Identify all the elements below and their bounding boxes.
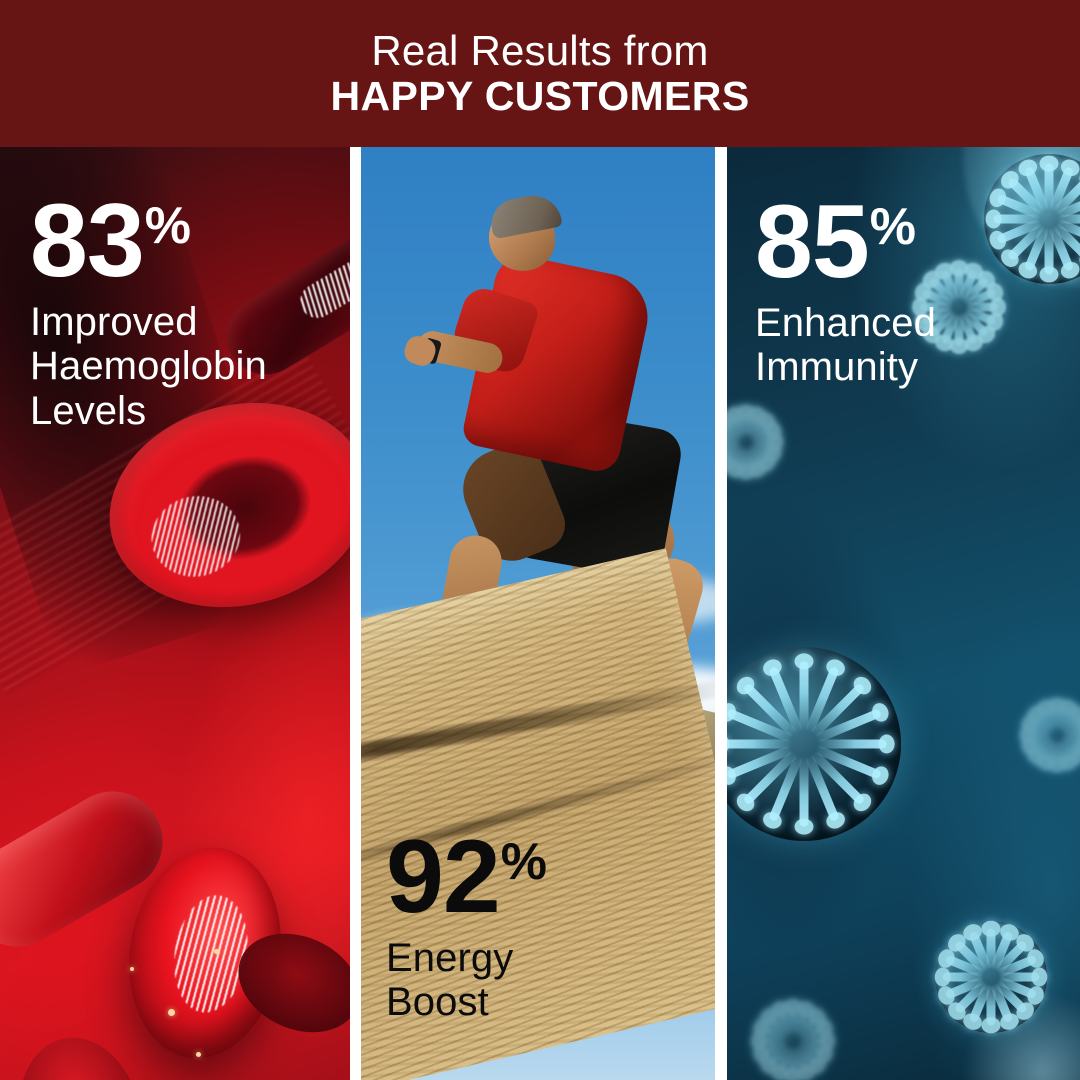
virus-spike xyxy=(800,757,809,827)
stat-label-line-2: Haemoglobin xyxy=(30,344,267,389)
stat-panel-immunity: 85 % Enhanced Immunity xyxy=(727,147,1080,1080)
stat-label-line-1: Energy xyxy=(386,936,547,981)
panel-divider-right xyxy=(715,147,727,1080)
stat-block-immunity: 85 % Enhanced Immunity xyxy=(755,195,936,390)
stat-label: Energy Boost xyxy=(386,936,547,1026)
header-title: HAPPY CUSTOMERS xyxy=(330,75,749,118)
header-subtitle: Real Results from xyxy=(371,29,708,73)
virus-spike xyxy=(727,740,791,749)
stat-value-row: 92 % xyxy=(386,830,547,926)
virus-spikes xyxy=(727,609,939,879)
stat-label-line-2: Immunity xyxy=(755,345,936,390)
blood-speck xyxy=(196,1052,201,1057)
panel-row: 83 % Improved Haemoglobin Levels xyxy=(0,147,1080,1080)
stat-label: Improved Haemoglobin Levels xyxy=(30,300,267,434)
stat-value: 92 xyxy=(386,830,500,926)
blood-speck xyxy=(214,949,219,954)
virus-spikes xyxy=(727,393,795,491)
stat-panel-haemoglobin: 83 % Improved Haemoglobin Levels xyxy=(0,147,350,1080)
infographic-root: Real Results from HAPPY CUSTOMERS 83 xyxy=(0,0,1080,1080)
stat-label-line-3: Levels xyxy=(30,389,267,434)
virus-spike xyxy=(817,740,887,749)
virus-particle xyxy=(737,985,849,1080)
virus-particle xyxy=(727,393,795,491)
virus-spikes xyxy=(1009,687,1080,783)
stat-label: Enhanced Immunity xyxy=(755,301,936,391)
virus-spikes xyxy=(737,985,849,1080)
blood-speck xyxy=(168,1009,175,1016)
stat-block-haemoglobin: 83 % Improved Haemoglobin Levels xyxy=(30,194,267,434)
stat-label-line-1: Enhanced xyxy=(755,301,936,346)
header-banner: Real Results from HAPPY CUSTOMERS xyxy=(0,0,1080,147)
stat-label-line-1: Improved xyxy=(30,300,267,345)
stat-label-line-2: Boost xyxy=(386,980,547,1025)
stat-panel-energy: 92 % Energy Boost xyxy=(361,147,715,1080)
stat-value: 83 xyxy=(30,194,144,290)
stat-value-row: 83 % xyxy=(30,194,267,290)
percent-symbol: % xyxy=(501,836,547,888)
blood-speck xyxy=(130,967,134,971)
virus-spikes xyxy=(913,899,1069,1055)
virus-particle xyxy=(913,899,1069,1055)
virus-spike xyxy=(800,661,809,731)
virus-spikes xyxy=(959,147,1080,309)
percent-symbol: % xyxy=(870,201,916,253)
percent-symbol: % xyxy=(145,200,191,252)
virus-particle xyxy=(959,147,1080,309)
stat-value-row: 85 % xyxy=(755,195,936,291)
panel-divider-left xyxy=(350,147,361,1080)
stat-value: 85 xyxy=(755,195,869,291)
stat-block-energy: 92 % Energy Boost xyxy=(386,830,547,1025)
virus-particle xyxy=(1009,687,1080,783)
virus-particle-large xyxy=(727,609,939,879)
